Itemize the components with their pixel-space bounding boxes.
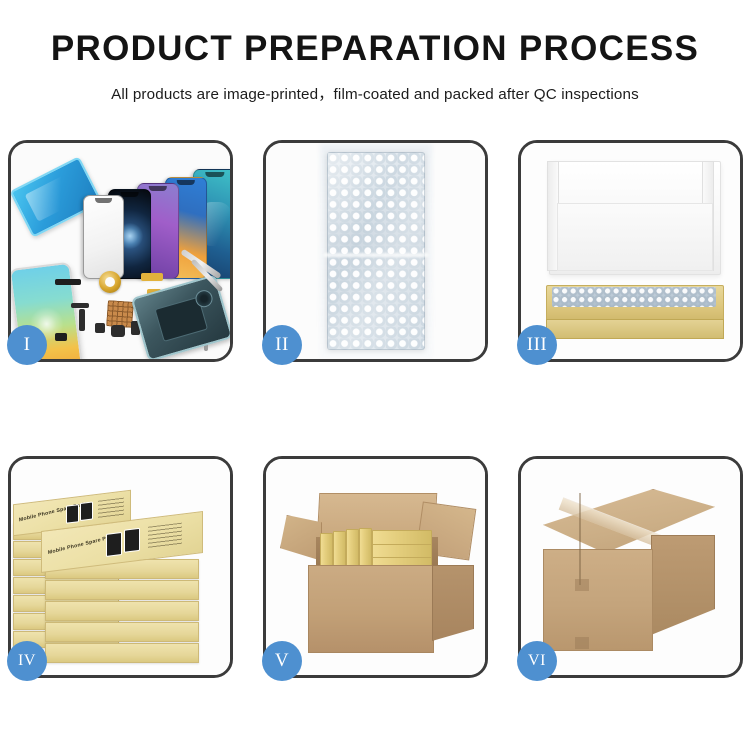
carton-side-face [651,535,715,635]
phone-image-on-box [124,528,140,553]
retail-box-stack-scene: Mobile Phone Spare Parts Mobile Phone Sp… [11,459,230,675]
sim-tray-icon [55,333,67,341]
phone-screen-white-icon [83,195,124,279]
carton-side [432,565,474,641]
step-1-image [11,143,230,359]
phone-image-on-box [80,501,93,521]
chip-icon [55,279,81,285]
retail-box [45,622,199,642]
box-spec-lines [98,498,124,519]
process-step-2: II [263,140,488,362]
notch-icon [95,198,113,203]
step-6-image [521,459,740,675]
process-step-grid: I II III [8,140,744,678]
notch-icon [120,192,139,197]
step-4-image: Mobile Phone Spare Parts Mobile Phone Sp… [11,459,230,675]
process-step-4: Mobile Phone Spare Parts Mobile Phone Sp… [8,456,233,678]
carton-body [308,565,434,653]
phone-screen-fan [83,161,230,279]
box-spec-lines [148,523,182,549]
process-step-1: I [8,140,233,362]
phone-image-on-box [106,532,122,557]
inner-box-scene [521,143,740,359]
flex-cable-dark-icon [71,303,89,308]
sealed-carton-scene [521,459,740,675]
flex-cable-dark-icon [79,309,85,331]
notch-icon [177,180,195,185]
step-5-image [266,459,485,675]
phone-parts-scene [11,143,230,359]
carton-seam [579,493,581,585]
notch-icon [149,186,167,191]
bubble-wrap-scene [266,143,485,359]
process-step-5: V [263,456,488,678]
foam-insert-icon [557,203,713,271]
camera-module-icon [111,325,125,337]
carton-tab [575,637,589,649]
step-badge-1: I [7,325,47,365]
notch-icon [205,172,224,177]
carton-loading-scene [266,459,485,675]
carton-front-face [543,549,653,651]
step-badge-3: III [517,325,557,365]
flex-cable-icon [141,273,163,281]
step-badge-4: IV [7,641,47,681]
step-2-image [266,143,485,359]
bubble-wrap-seam [324,253,428,257]
retail-box-in-carton [372,530,432,545]
retail-box-in-carton [372,543,432,558]
carton-tab [575,579,589,591]
retail-box [45,580,199,600]
header: PRODUCT PREPARATION PROCESS All products… [0,0,750,104]
bubble-wrap-pouch-icon [327,152,425,350]
page-title: PRODUCT PREPARATION PROCESS [0,31,750,66]
kraft-tray-front [546,319,724,339]
connector-icon [95,323,105,333]
step-badge-5: V [262,641,302,681]
speaker-coil-icon [99,271,121,293]
process-step-6: VI [518,456,743,678]
step-badge-6: VI [517,641,557,681]
retail-box [45,643,199,663]
page-subtitle: All products are image-printed，film-coat… [0,66,750,104]
step-3-image [521,143,740,359]
retail-box [45,601,199,621]
bubble-wrap-contents-icon [552,287,716,307]
phone-image-on-box [66,504,79,524]
copper-mesh-icon [106,300,134,328]
step-badge-2: II [262,325,302,365]
process-step-3: III [518,140,743,362]
